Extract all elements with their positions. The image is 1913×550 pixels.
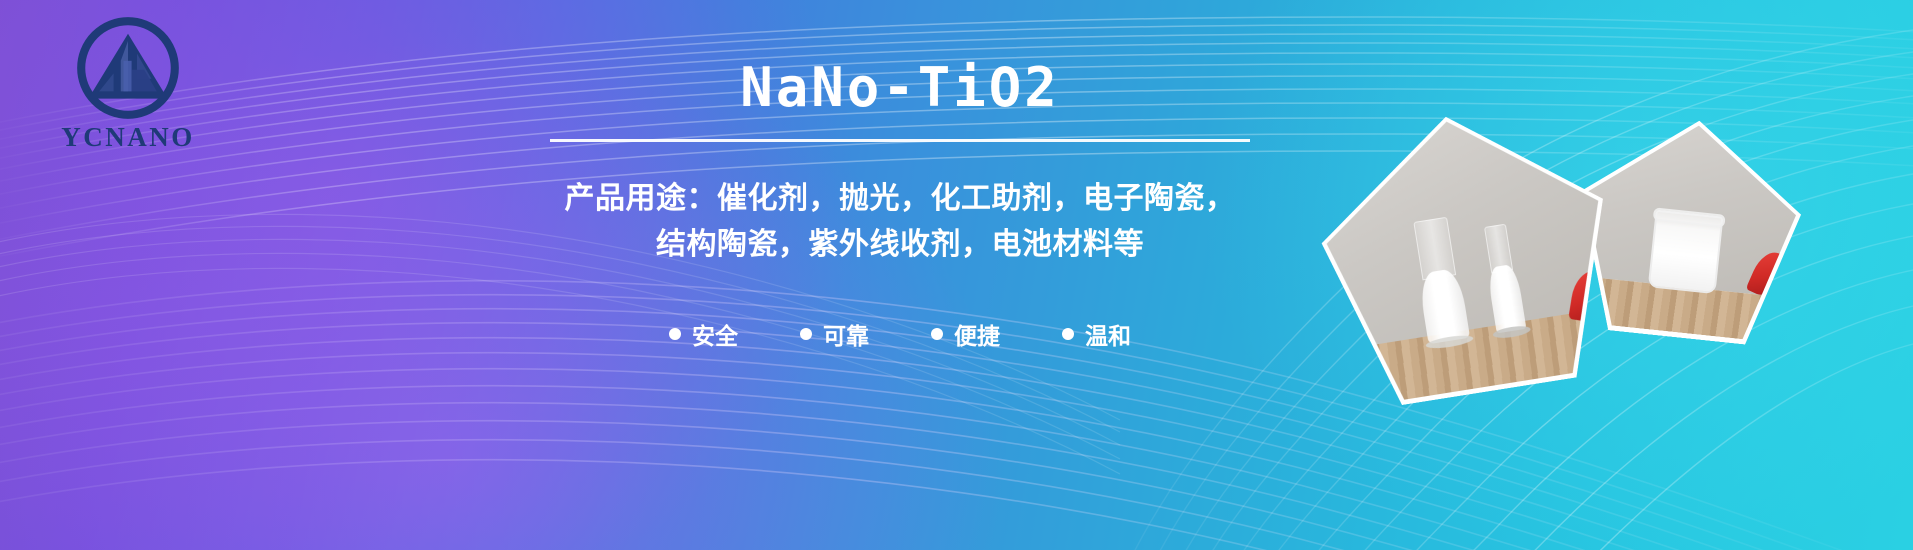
feature-label: 可靠 — [823, 317, 869, 351]
ycnano-triangle-circle-logo — [74, 14, 182, 122]
feature-item-reliable: 可靠 — [800, 317, 869, 351]
feature-item-convenient: 便捷 — [931, 317, 1000, 351]
beaker-object — [1648, 209, 1723, 295]
dot-icon — [931, 328, 943, 340]
product-banner: YCNANO NaNo-TiO2 产品用途：催化剂，抛光，化工助剂，电子陶瓷， … — [0, 0, 1913, 550]
brand-logo[interactable]: YCNANO — [38, 14, 218, 151]
brand-wordmark: YCNANO — [38, 124, 218, 151]
dot-icon — [669, 328, 681, 340]
feature-item-safe: 安全 — [669, 317, 738, 351]
dot-icon — [800, 328, 812, 340]
dot-icon — [1062, 328, 1074, 340]
product-photo-group — [1153, 0, 1913, 550]
title-divider — [550, 139, 1250, 142]
feature-item-mild: 温和 — [1062, 317, 1131, 351]
feature-label: 便捷 — [954, 317, 1000, 351]
product-photo-beaker — [1566, 109, 1810, 349]
feature-label: 安全 — [692, 317, 738, 351]
product-photo-vases — [1305, 94, 1630, 413]
feature-label: 温和 — [1085, 317, 1131, 351]
